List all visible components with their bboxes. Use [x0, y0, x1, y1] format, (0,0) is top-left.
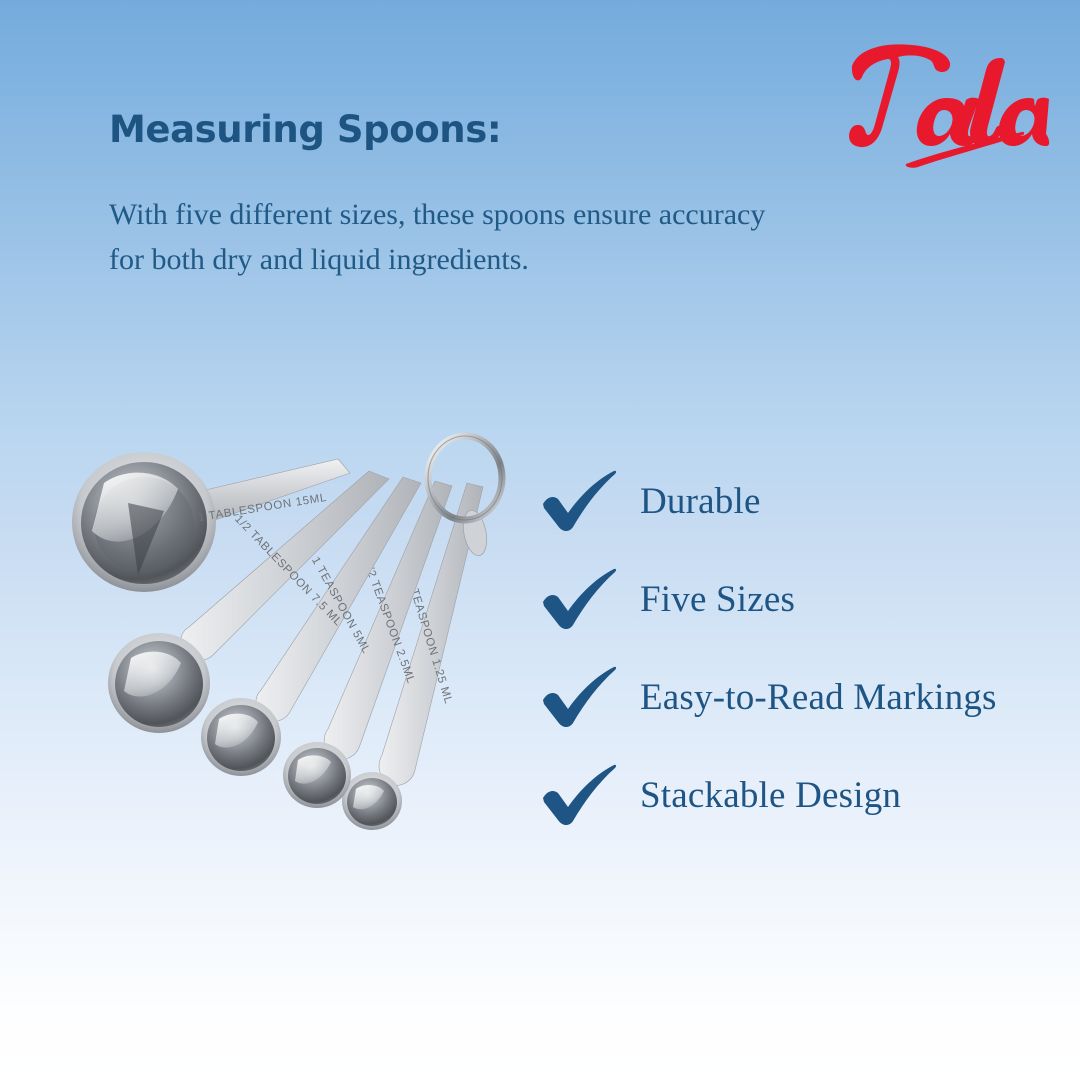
check-icon	[540, 470, 618, 532]
check-icon	[540, 568, 618, 630]
feature-label: Five Sizes	[640, 578, 795, 621]
spoon-one-tablespoon: 1 TABLESPOON 15ML	[72, 452, 350, 592]
product-infographic: Measuring Spoons: With five different si…	[0, 0, 1080, 1080]
feature-label: Easy-to-Read Markings	[640, 676, 997, 719]
page-title: Measuring Spoons:	[109, 108, 501, 151]
feature-label: Durable	[640, 480, 761, 523]
check-icon	[540, 764, 618, 826]
page-description: With five different sizes, these spoons …	[109, 192, 765, 282]
feature-list: Durable Five Sizes Easy-to-Read Markings	[540, 452, 1080, 844]
feature-item-durable: Durable	[540, 452, 1080, 550]
check-icon	[540, 666, 618, 728]
tala-logo	[838, 36, 1050, 170]
feature-item-stackable-design: Stackable Design	[540, 746, 1080, 844]
product-image: 1/4 TEASPOON 1.25 ML 1/2 TEASPOON 2.5ML …	[20, 415, 550, 835]
feature-label: Stackable Design	[640, 774, 901, 817]
tala-script-wordmark-icon	[849, 44, 1049, 167]
feature-item-five-sizes: Five Sizes	[540, 550, 1080, 648]
feature-item-easy-to-read-markings: Easy-to-Read Markings	[540, 648, 1080, 746]
